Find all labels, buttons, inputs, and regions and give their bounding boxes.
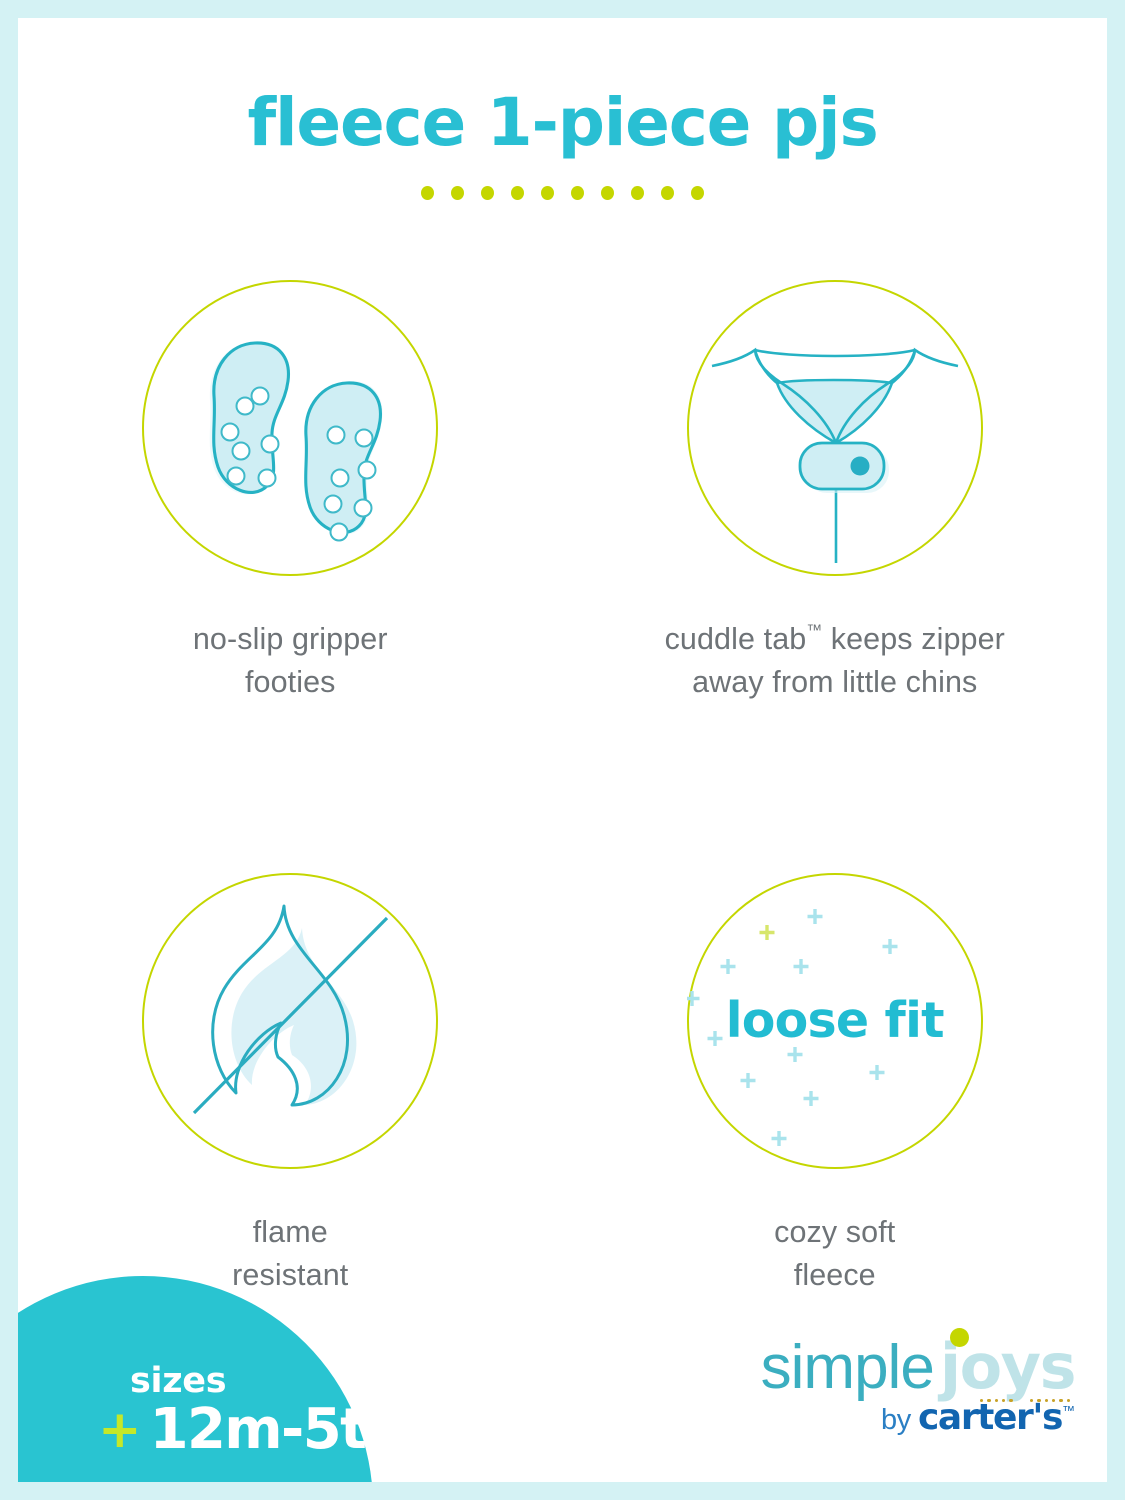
left-foot-shape xyxy=(214,343,289,492)
divider-dot xyxy=(451,186,464,200)
content-card: fleece 1-piece pjs xyxy=(18,18,1107,1482)
plus-icon: + xyxy=(98,1404,142,1456)
caption-line-2: resistant xyxy=(232,1258,348,1292)
sizes-label: sizes xyxy=(130,1363,398,1400)
feature-cuddle-tab: cuddle tab™ keeps zipper away from littl… xyxy=(563,280,1108,705)
logo-word-carters: carter's xyxy=(918,1397,1062,1438)
divider-dots xyxy=(18,186,1107,200)
feature-icon-circle: loose fit xyxy=(687,873,983,1169)
caption-line-1: cuddle tab xyxy=(665,622,807,656)
sizes-range: 12m-5t xyxy=(150,1402,366,1458)
divider-dot xyxy=(571,186,584,200)
logo-primary-row: simplejoys xyxy=(761,1330,1075,1403)
feature-icon-circle xyxy=(142,280,438,576)
feature-icon-circle xyxy=(687,280,983,576)
feature-caption: cozy soft fleece xyxy=(774,1211,895,1298)
cuddle-tab-shape xyxy=(800,443,884,489)
j-dot-icon xyxy=(950,1328,969,1347)
dot-group xyxy=(980,1399,1013,1402)
feature-caption: cuddle tab™ keeps zipper away from littl… xyxy=(665,618,1005,705)
feature-gripper-footies: no-slip gripper footies xyxy=(18,280,563,705)
no-flame-icon xyxy=(142,873,438,1169)
zipper-pull-dot xyxy=(850,457,869,476)
divider-dot xyxy=(631,186,644,200)
trademark-symbol: ™ xyxy=(806,623,822,640)
divider-dot xyxy=(541,186,554,200)
feature-flame-resistant: flame resistant xyxy=(18,873,563,1298)
divider-dot xyxy=(481,186,494,200)
prohibition-slash xyxy=(194,918,387,1113)
divider-dot xyxy=(421,186,434,200)
logo-trademark: ™ xyxy=(1062,1403,1075,1418)
feature-cozy-soft-fleece: loose fit cozy soft fleece xyxy=(563,873,1108,1298)
feature-icon-circle xyxy=(142,873,438,1169)
caption-line-2: away from little chins xyxy=(692,665,977,699)
loose-fit-badge: loose fit xyxy=(687,873,983,1169)
divider-dot xyxy=(511,186,524,200)
feature-caption: flame resistant xyxy=(232,1211,348,1298)
caption-line-1: flame xyxy=(253,1215,328,1249)
sizes-range-row: + 12m-5t xyxy=(98,1402,398,1458)
caption-line-1-rest: keeps zipper xyxy=(822,622,1005,656)
feature-grid: no-slip gripper footies xyxy=(18,280,1107,1297)
logo-joys-wrap: joys xyxy=(934,1330,1075,1403)
caption-line-2: fleece xyxy=(794,1258,876,1292)
collar-cuddle-tab-icon xyxy=(687,280,983,576)
header: fleece 1-piece pjs xyxy=(18,90,1107,200)
infographic-page: fleece 1-piece pjs xyxy=(0,0,1125,1500)
divider-dot xyxy=(691,186,704,200)
caption-line-1: no-slip gripper xyxy=(193,622,388,656)
logo-word-by: by xyxy=(881,1404,911,1436)
brand-logo: simplejoys bycarter's™ xyxy=(761,1330,1075,1438)
logo-word-simple: simple xyxy=(761,1333,934,1402)
sizes-badge: sizes + 12m-5t xyxy=(98,1363,398,1458)
page-title: fleece 1-piece pjs xyxy=(18,90,1107,156)
caption-line-2: footies xyxy=(245,665,336,699)
footie-grippers-icon xyxy=(142,280,438,576)
divider-dot xyxy=(661,186,674,200)
feature-caption: no-slip gripper footies xyxy=(193,618,388,705)
logo-secondary-row: bycarter's™ xyxy=(761,1397,1075,1438)
caption-line-1: cozy soft xyxy=(774,1215,895,1249)
dot-group xyxy=(1030,1399,1070,1402)
logo-underline-dots xyxy=(980,1399,1070,1402)
divider-dot xyxy=(601,186,614,200)
